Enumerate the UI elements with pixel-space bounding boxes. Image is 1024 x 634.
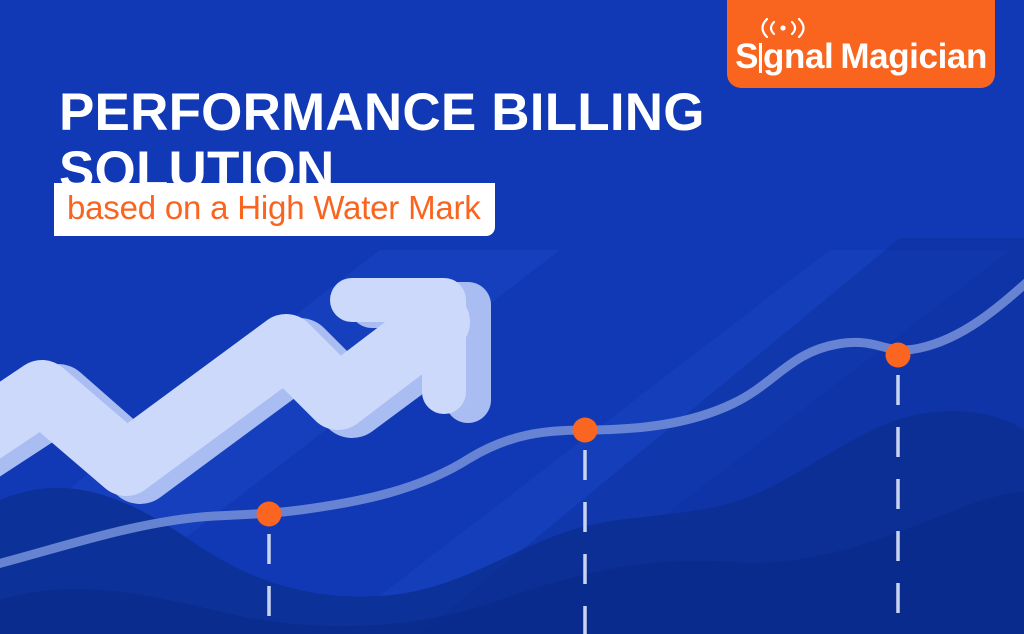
marketing-banner: PERFORMANCE BILLING SOLUTION based on a … xyxy=(0,0,1024,634)
logo-divider-bar xyxy=(759,43,762,73)
page-title-line-1: PERFORMANCE BILLING xyxy=(59,84,705,143)
logo-badge[interactable]: SgnalMagician xyxy=(727,0,995,88)
subtitle-text: based on a High Water Mark xyxy=(67,190,481,227)
logo-text-gnal: gnal xyxy=(763,37,833,76)
high-water-mark-dot-1[interactable] xyxy=(257,502,282,527)
performance-curve-line xyxy=(0,276,1024,566)
logo-text-magician: Magician xyxy=(840,37,987,76)
subtitle-banner: based on a High Water Mark xyxy=(54,183,495,236)
high-water-mark-dot-3[interactable] xyxy=(886,343,911,368)
logo-text-s: S xyxy=(735,37,758,76)
signal-waves-icon xyxy=(757,16,809,40)
logo-wordmark: SgnalMagician xyxy=(735,39,987,74)
high-water-mark-dot-2[interactable] xyxy=(573,418,598,443)
